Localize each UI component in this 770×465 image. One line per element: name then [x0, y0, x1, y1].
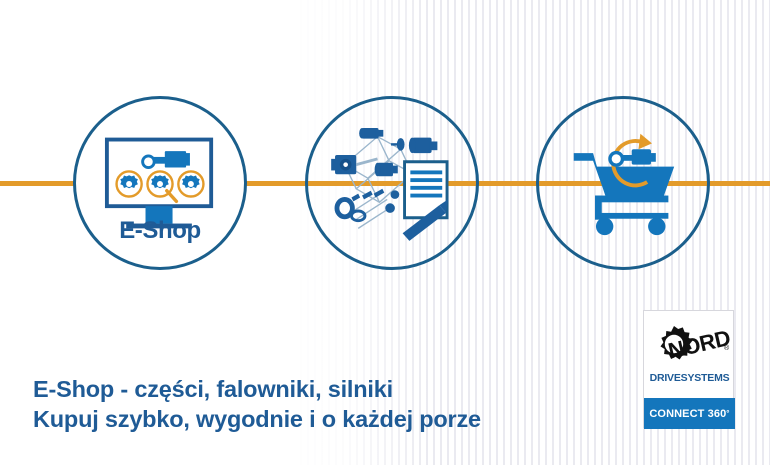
nord-logo-subtitle: DRIVESYSTEMS [644, 372, 735, 384]
connect-360-label: CONNECT 360 [649, 408, 726, 420]
connect-360-badge[interactable]: CONNECT 360° [644, 398, 735, 429]
e-shop-caption: E-Shop [76, 217, 244, 245]
headline-line-1: E-Shop - części, falowniki, silniki [33, 374, 481, 404]
exploded-parts-document-icon [308, 99, 476, 267]
promo-banner: E-Shop [0, 0, 770, 465]
nord-logo-box[interactable]: NORD ® DRIVESYSTEMS CONNECT 360° [643, 310, 734, 428]
icon-circle-e-shop[interactable]: E-Shop [73, 96, 247, 270]
registered-mark: ® [724, 344, 730, 352]
shopping-cart-motor-icon [539, 99, 707, 267]
icon-circle-cart[interactable] [536, 96, 710, 270]
headline-line-2: Kupuj szybko, wygodnie i o każdej porze [33, 404, 481, 434]
icon-circle-parts[interactable] [305, 96, 479, 270]
nord-gear-logo-icon: NORD ® [644, 320, 735, 368]
connect-360-degree: ° [726, 409, 729, 418]
headline: E-Shop - części, falowniki, silniki Kupu… [33, 374, 481, 434]
